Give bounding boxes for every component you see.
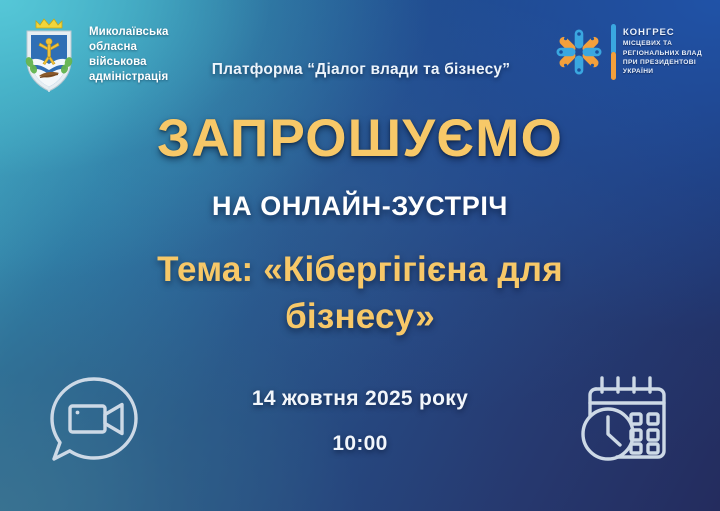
poster-header: Миколаївська обласна військова адміністр…: [0, 0, 720, 108]
headline-invitation: ЗАПРОШУЄМО: [0, 108, 720, 169]
congress-pinwheel-logo-icon: [554, 27, 604, 77]
meeting-topic: Тема: «Кібергігієна для бізнесу»: [96, 247, 624, 340]
video-chat-bubble-icon: [41, 371, 147, 471]
congress-label: КОНГРЕСМІСЦЕВИХ ТА РЕГІОНАЛЬНИХ ВЛАД ПРИ…: [623, 27, 702, 76]
oblast-administration-label: Миколаївська обласна військова адміністр…: [89, 25, 169, 86]
subheadline-online-meeting: НА ОНЛАЙН-ЗУСТРІЧ: [0, 191, 720, 222]
oblast-administration-branding: Миколаївська обласна військова адміністр…: [18, 14, 169, 96]
congress-branding: КОНГРЕСМІСЦЕВИХ ТА РЕГІОНАЛЬНИХ ВЛАД ПРИ…: [554, 24, 702, 80]
congress-lead-label: КОНГРЕС: [623, 27, 702, 39]
invitation-poster: Миколаївська обласна військова адміністр…: [0, 0, 720, 511]
congress-divider-bar: [611, 24, 616, 80]
platform-title: Платформа “Діалог влади та бізнесу”: [196, 61, 526, 79]
congress-sub-label: МІСЦЕВИХ ТА РЕГІОНАЛЬНИХ ВЛАД ПРИ ПРЕЗИД…: [623, 40, 702, 75]
calendar-clock-icon: [573, 372, 677, 470]
mykolaiv-oblast-coat-of-arms-icon: [18, 14, 80, 96]
